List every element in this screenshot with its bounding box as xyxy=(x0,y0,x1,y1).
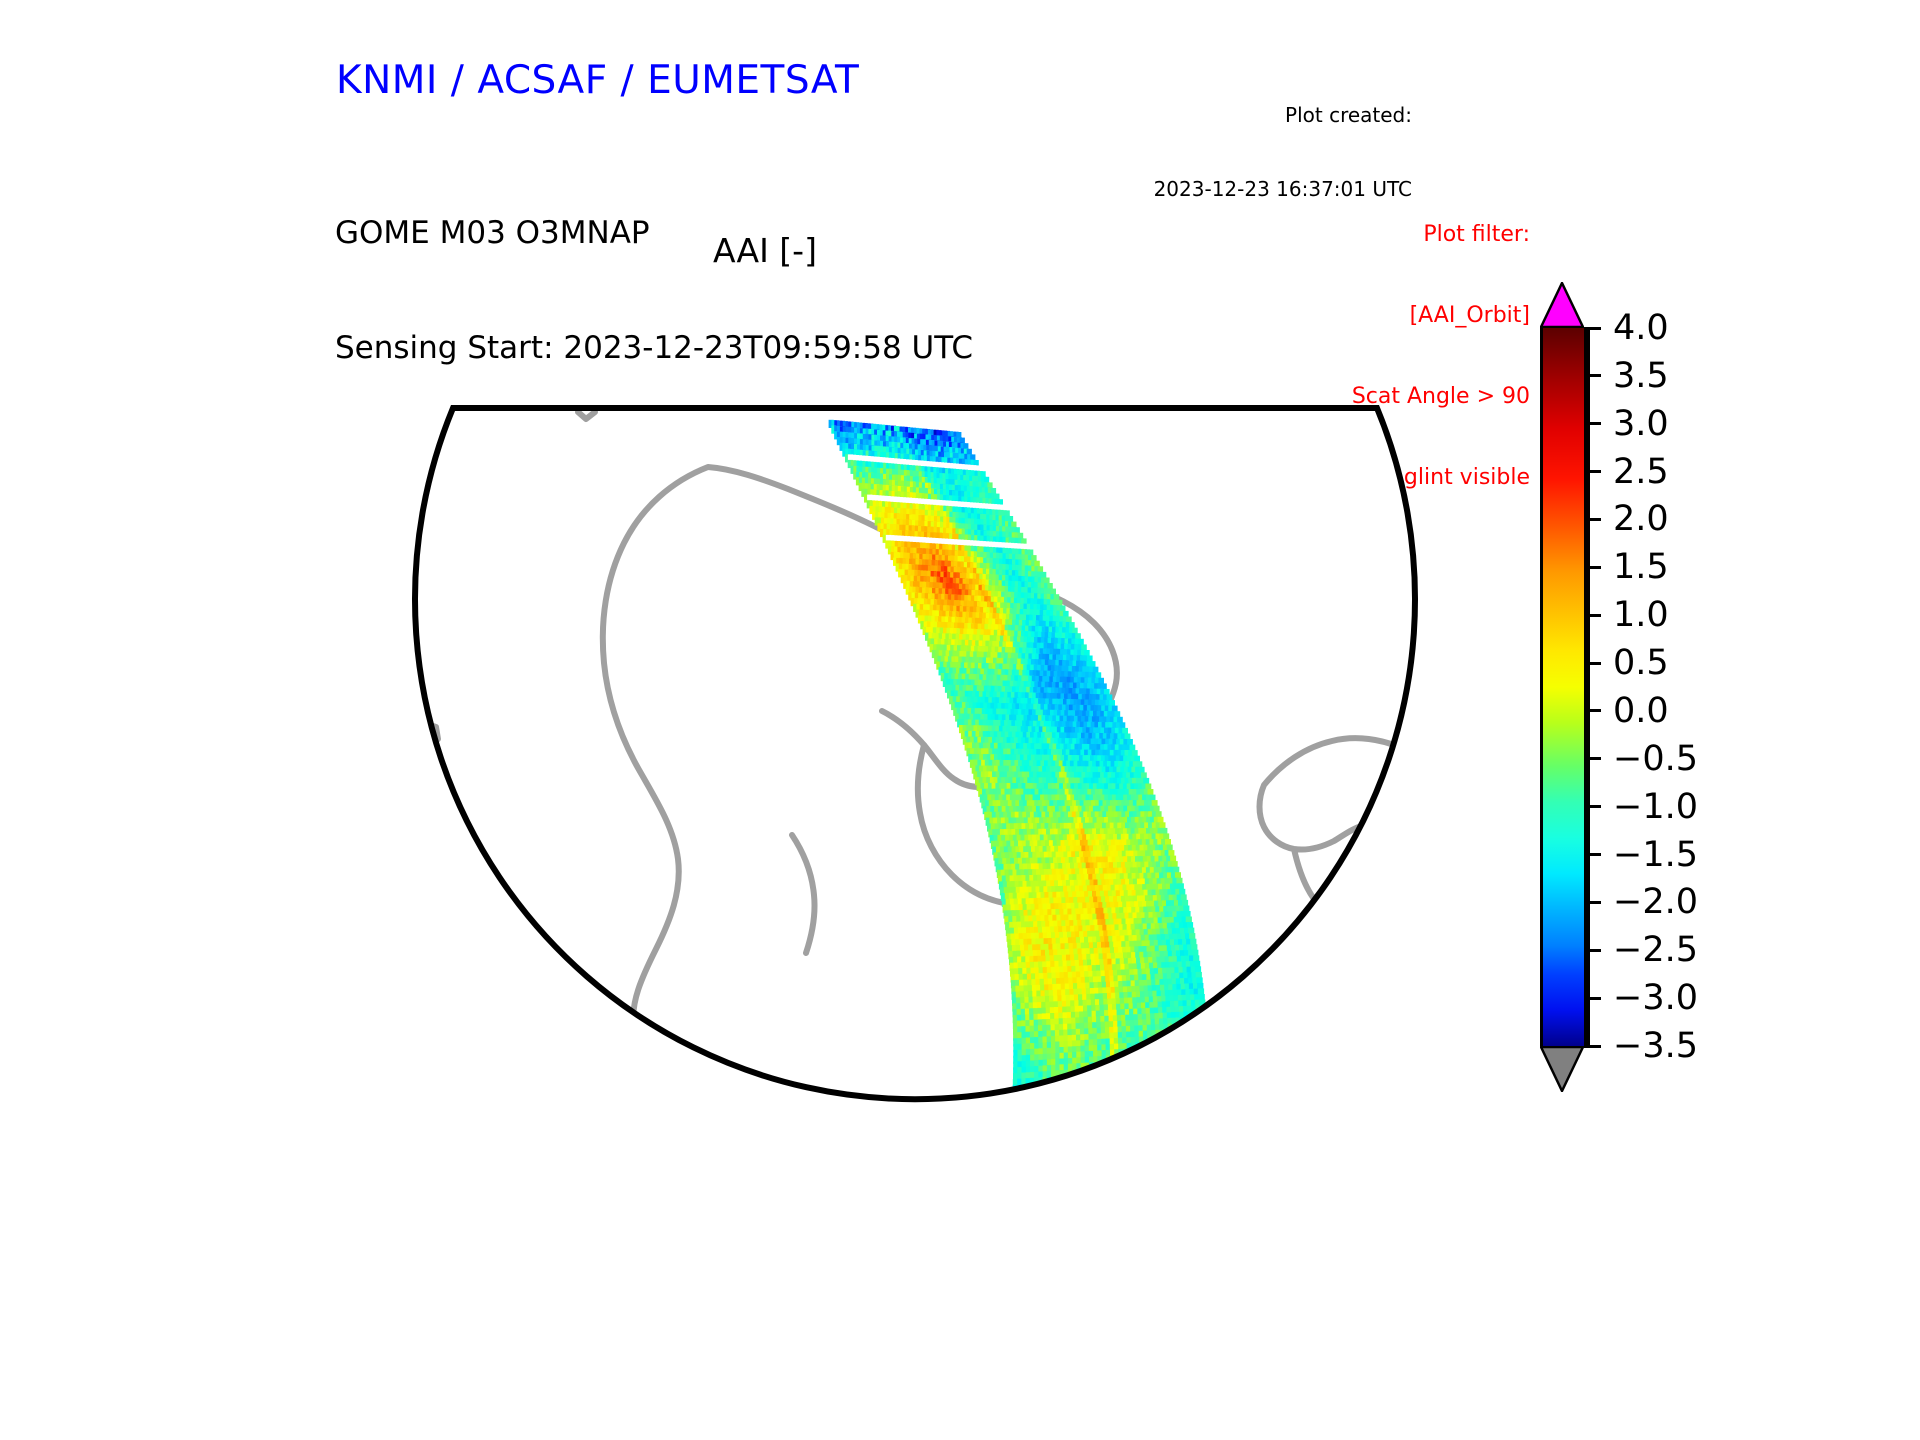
colorbar-tick-label: −2.0 xyxy=(1613,882,1698,922)
plot-title: AAI [-] xyxy=(0,232,1530,271)
colorbar-tick-label: 2.0 xyxy=(1613,499,1669,539)
colorbar-tick xyxy=(1584,997,1601,1000)
colorbar-tick xyxy=(1584,470,1601,473)
colorbar-axis-line xyxy=(1584,328,1587,1046)
colorbar-tick-label: 1.5 xyxy=(1613,547,1669,587)
colorbar-tick xyxy=(1584,374,1601,377)
colorbar-tick xyxy=(1584,901,1601,904)
plot-filter-title: Plot filter: xyxy=(1352,220,1530,249)
colorbar-tick-label: −0.5 xyxy=(1613,739,1698,779)
colorbar-tick xyxy=(1584,614,1601,617)
colorbar-tick-label: 4.0 xyxy=(1613,308,1669,348)
colorbar-tick-label: 0.0 xyxy=(1613,691,1669,731)
colorbar-tick xyxy=(1584,949,1601,952)
colorbar-gradient xyxy=(1540,328,1590,1046)
plot-created-label: Plot created: xyxy=(1154,102,1412,129)
colorbar-tick-label: −1.0 xyxy=(1613,787,1698,827)
colorbar-tick xyxy=(1584,757,1601,760)
colorbar-tick xyxy=(1584,566,1601,569)
colorbar-tick xyxy=(1584,1045,1601,1048)
organisation-title: KNMI / ACSAF / EUMETSAT xyxy=(336,58,859,104)
colorbar-tick-label: 1.0 xyxy=(1613,595,1669,635)
colorbar-tick xyxy=(1584,709,1601,712)
colorbar-tick-label: 3.5 xyxy=(1613,356,1669,396)
colorbar-tick-label: 0.5 xyxy=(1613,643,1669,683)
coastline-island-right xyxy=(1283,967,1313,1003)
colorbar-tick-label: 2.5 xyxy=(1613,452,1669,492)
colorbar-tick-label: 3.0 xyxy=(1613,404,1669,444)
map-panel[interactable] xyxy=(320,275,1510,1295)
colorbar-tick xyxy=(1584,327,1601,330)
colorbar-tick-label: −3.0 xyxy=(1613,978,1698,1018)
colorbar-tick xyxy=(1584,853,1601,856)
colorbar-tick-label: −2.5 xyxy=(1613,930,1698,970)
polar-map[interactable] xyxy=(320,275,1510,1295)
colorbar-tick xyxy=(1584,518,1601,521)
colorbar-over-range-arrow xyxy=(1540,282,1584,328)
colorbar[interactable]: 4.03.53.02.52.01.51.00.50.0−0.5−1.0−1.5−… xyxy=(1516,282,1916,1102)
colorbar-tick xyxy=(1584,422,1601,425)
colorbar-tick-label: −1.5 xyxy=(1613,835,1698,875)
colorbar-tick xyxy=(1584,662,1601,665)
colorbar-under-range-arrow xyxy=(1540,1046,1584,1092)
colorbar-tick xyxy=(1584,805,1601,808)
colorbar-tick-label: −3.5 xyxy=(1613,1026,1698,1066)
